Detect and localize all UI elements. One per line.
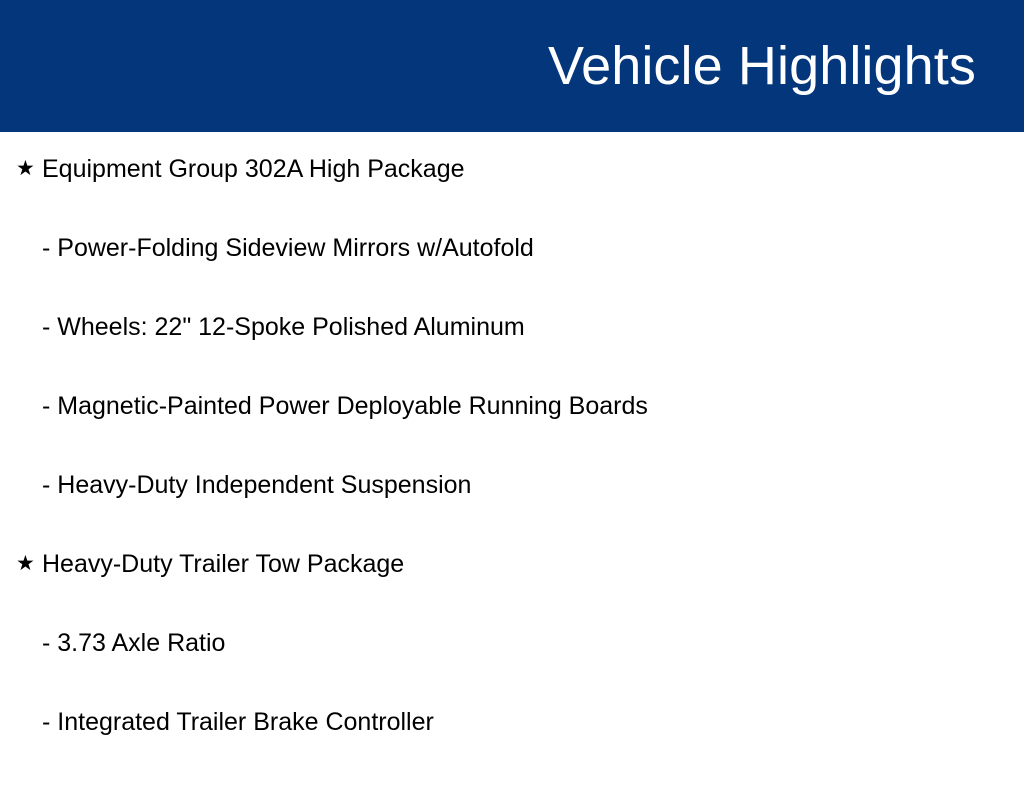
bullet-text: - Wheels: 22" 12-Spoke Polished Aluminum	[42, 312, 525, 342]
sub-bullet-item: - Heavy-Duty Independent Suspension	[0, 470, 1024, 549]
sub-bullet-item: - Magnetic-Painted Power Deployable Runn…	[0, 391, 1024, 470]
sub-bullet-item: - Integrated Trailer Brake Controller	[0, 707, 1024, 786]
sub-bullet-item: - 3.73 Axle Ratio	[0, 628, 1024, 707]
slide: Vehicle Highlights ★Equipment Group 302A…	[0, 0, 1024, 768]
sub-bullet-item: - Wheels: 22" 12-Spoke Polished Aluminum	[0, 312, 1024, 391]
bullet-item: ★Equipment Group 302A High Package	[0, 154, 1024, 233]
bullet-text: - Heavy-Duty Independent Suspension	[42, 470, 471, 500]
bullet-text: Equipment Group 302A High Package	[42, 154, 465, 184]
bullet-text: - Magnetic-Painted Power Deployable Runn…	[42, 391, 648, 421]
bullet-list: ★Equipment Group 302A High Package- Powe…	[0, 132, 1024, 768]
sub-bullet-item: - Power-Folding Sideview Mirrors w/Autof…	[0, 233, 1024, 312]
bullet-text: - Integrated Trailer Brake Controller	[42, 707, 434, 737]
bullet-text: - 3.73 Axle Ratio	[42, 628, 225, 658]
star-bullet-icon: ★	[16, 154, 42, 184]
page-title: Vehicle Highlights	[548, 38, 976, 95]
title-banner: Vehicle Highlights	[0, 0, 1024, 132]
star-bullet-icon: ★	[16, 549, 42, 579]
bullet-item: ★Heavy-Duty Trailer Tow Package	[0, 549, 1024, 628]
bullet-text: Heavy-Duty Trailer Tow Package	[42, 549, 404, 579]
bullet-text: - Power-Folding Sideview Mirrors w/Autof…	[42, 233, 534, 263]
